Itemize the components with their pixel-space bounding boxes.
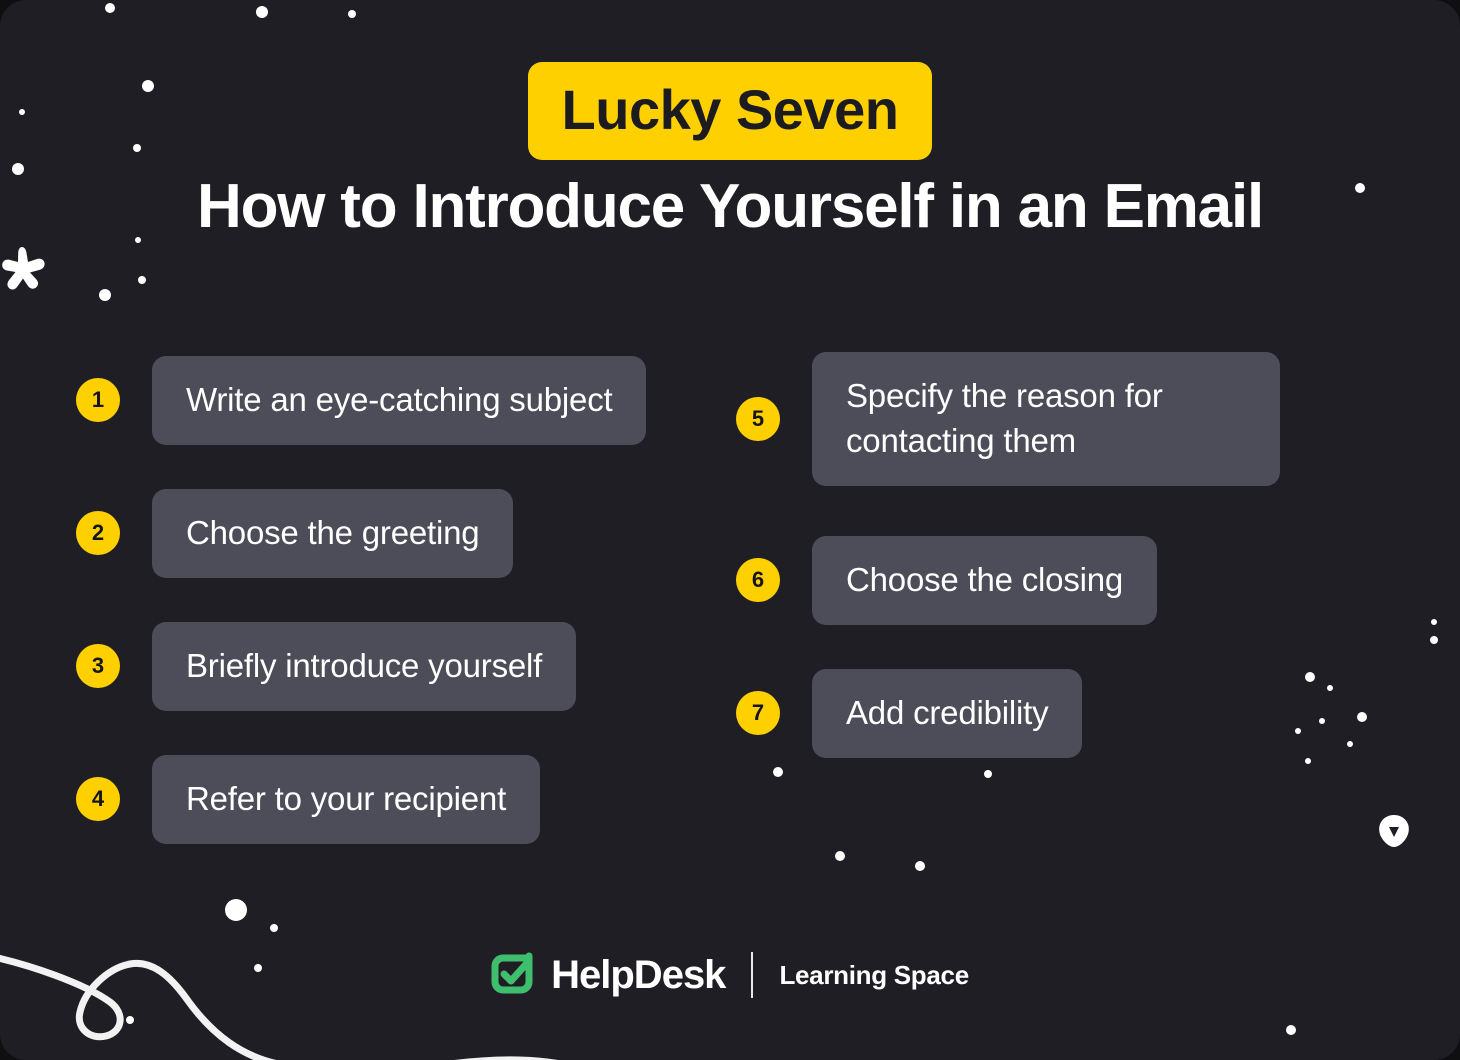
footer-divider	[751, 952, 753, 998]
decorative-dot	[1327, 685, 1333, 691]
footer: HelpDesk Learning Space	[0, 952, 1460, 998]
decorative-dot	[1305, 758, 1311, 764]
page-title: How to Introduce Yourself in an Email	[0, 174, 1460, 241]
helpdesk-logo-icon	[491, 952, 537, 998]
decorative-dot	[256, 6, 268, 18]
step-number-badge: 1	[76, 378, 120, 422]
step-label: Choose the closing	[812, 536, 1157, 625]
decorative-dot	[1286, 1025, 1296, 1035]
brand-name: HelpDesk	[551, 953, 725, 998]
step-label: Refer to your recipient	[152, 755, 540, 844]
step-item: 2 Choose the greeting	[76, 489, 736, 578]
decorative-dot	[105, 3, 115, 13]
sub-brand-label: Learning Space	[779, 960, 968, 991]
step-item: 1 Write an eye-catching subject	[76, 356, 736, 445]
step-item: 5 Specify the reason for contacting them	[736, 352, 1296, 486]
decorative-dot	[126, 1016, 134, 1024]
decorative-dot	[1319, 718, 1325, 724]
step-item: 6 Choose the closing	[736, 536, 1296, 625]
step-number-badge: 5	[736, 397, 780, 441]
step-number-badge: 4	[76, 777, 120, 821]
decorative-dot	[348, 10, 356, 18]
step-label: Briefly introduce yourself	[152, 622, 576, 711]
lucky-seven-badge: Lucky Seven	[528, 62, 933, 160]
decorative-dot	[270, 924, 278, 932]
decorative-dot	[138, 276, 146, 284]
step-number-badge: 7	[736, 691, 780, 735]
step-label: Choose the greeting	[152, 489, 513, 578]
infographic-canvas: Lucky Seven How to Introduce Yourself in…	[0, 0, 1460, 1060]
decorative-dot	[915, 861, 925, 871]
step-item: 3 Briefly introduce yourself	[76, 622, 736, 711]
step-label: Add credibility	[812, 669, 1082, 758]
header: Lucky Seven How to Introduce Yourself in…	[0, 62, 1460, 241]
step-item: 7 Add credibility	[736, 669, 1296, 758]
decorative-dot	[835, 851, 845, 861]
step-label: Specify the reason for contacting them	[812, 352, 1280, 486]
decorative-dot	[984, 770, 992, 778]
decorative-dot	[1431, 619, 1437, 625]
step-item: 4 Refer to your recipient	[76, 755, 736, 844]
shield-icon	[1378, 814, 1410, 848]
decorative-dot	[1347, 741, 1353, 747]
decorative-dot	[1305, 672, 1315, 682]
decorative-dot	[1357, 712, 1367, 722]
step-number-badge: 2	[76, 511, 120, 555]
decorative-dot	[773, 767, 783, 777]
steps-column-right: 5 Specify the reason for contacting them…	[736, 352, 1296, 758]
decorative-dot	[99, 289, 111, 301]
sparkle-icon	[2, 244, 48, 294]
steps-column-left: 1 Write an eye-catching subject 2 Choose…	[76, 356, 736, 844]
step-number-badge: 3	[76, 644, 120, 688]
helpdesk-brand: HelpDesk	[491, 952, 725, 998]
step-label: Write an eye-catching subject	[152, 356, 646, 445]
decorative-dot	[225, 899, 247, 921]
step-number-badge: 6	[736, 558, 780, 602]
decorative-dot	[1430, 636, 1438, 644]
